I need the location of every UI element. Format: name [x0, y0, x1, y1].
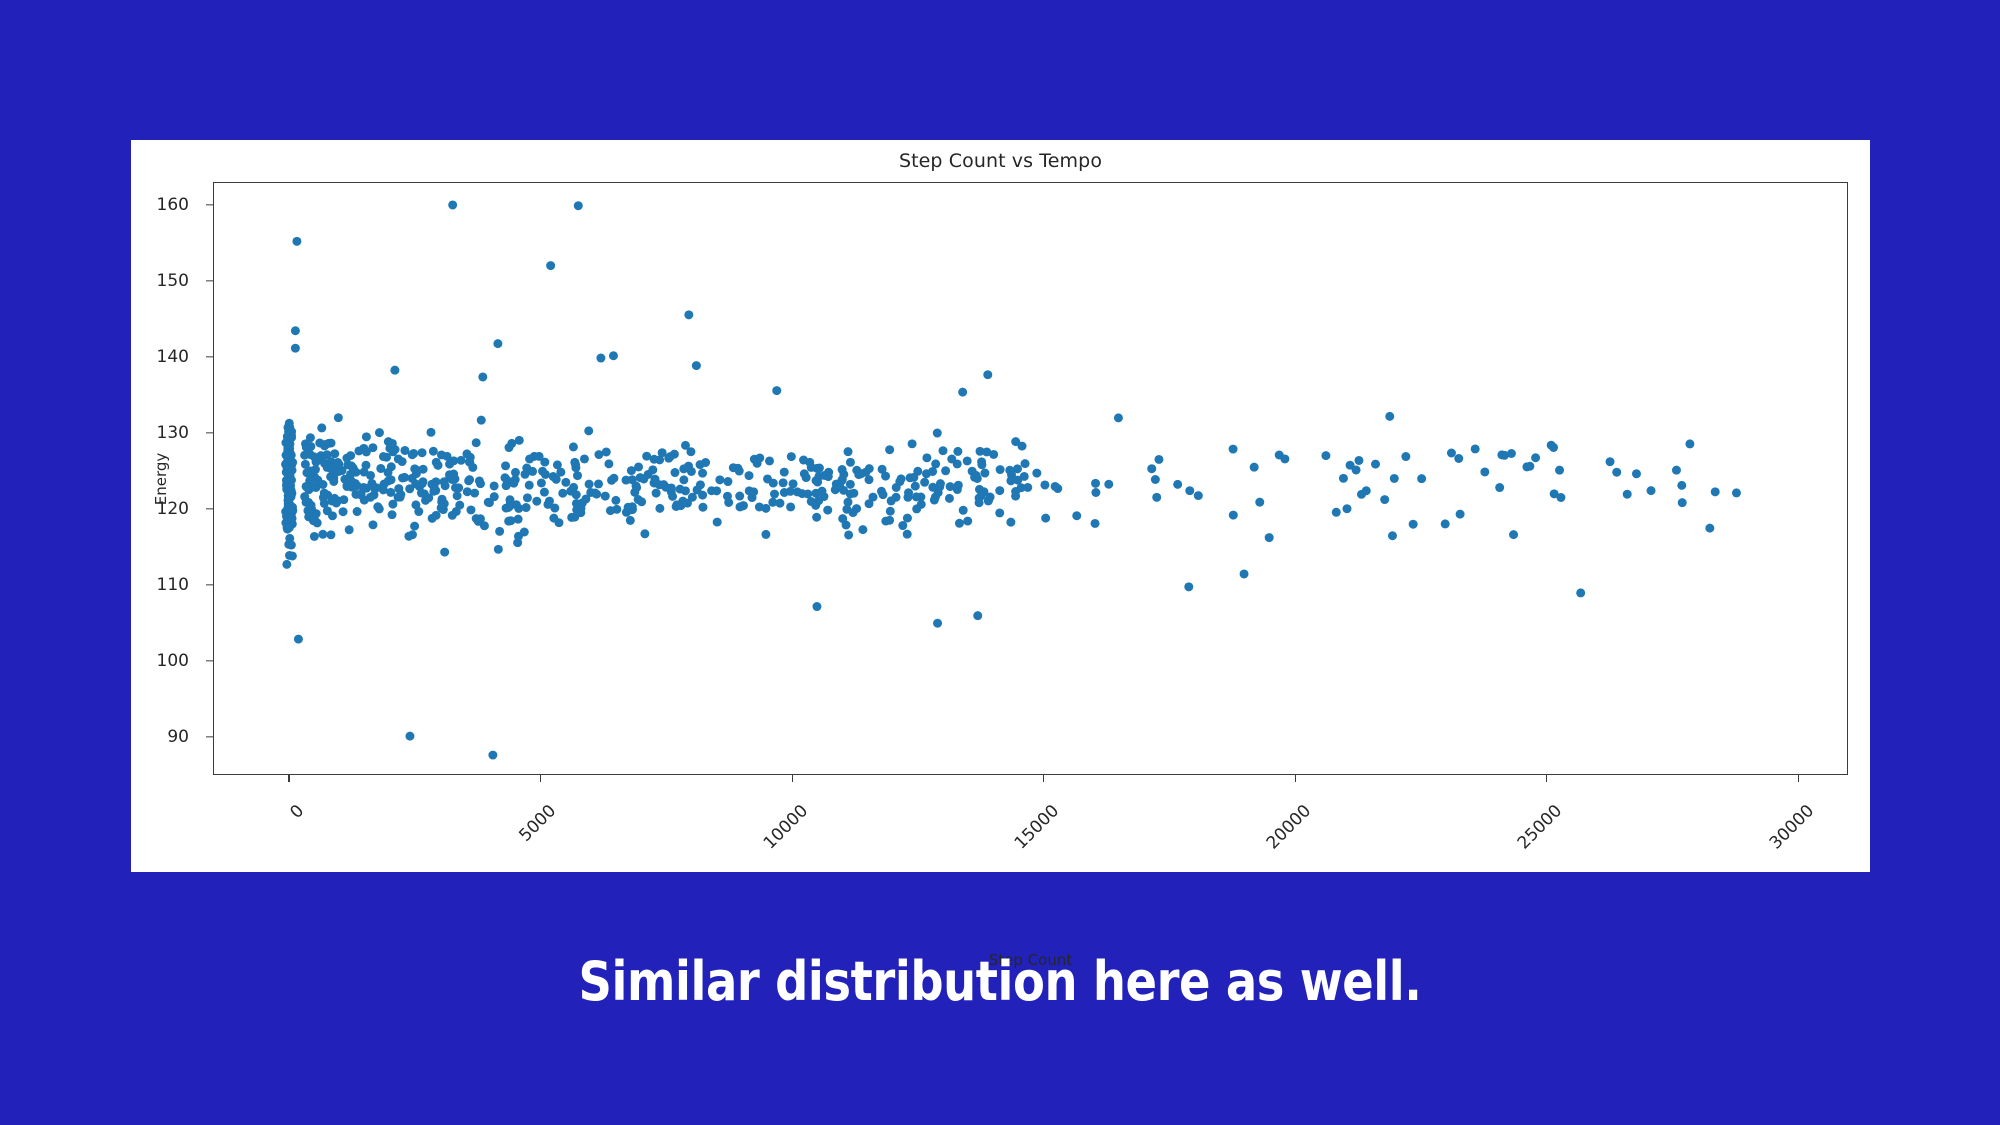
y-tick-mark	[206, 584, 213, 585]
x-tick-label: 5000	[515, 801, 560, 846]
y-tick-mark	[206, 356, 213, 357]
y-tick-label: 110	[157, 575, 201, 595]
slide-caption: Similar distribution here as well.	[140, 950, 1860, 1013]
x-tick-label: 0	[287, 801, 309, 823]
y-axis-label: Energy	[152, 452, 170, 505]
x-tick-mark	[792, 775, 793, 782]
x-tick-label: 10000	[759, 801, 811, 853]
y-tick-mark	[206, 508, 213, 509]
x-tick-label: 30000	[1765, 801, 1817, 853]
x-tick-label: 20000	[1262, 801, 1314, 853]
slide: Step Count vs Tempo 90100110120130140150…	[0, 0, 2000, 1125]
y-tick-mark	[206, 280, 213, 281]
x-tick-label: 25000	[1514, 801, 1566, 853]
y-tick-mark	[206, 204, 213, 205]
x-tick-mark	[540, 775, 541, 782]
x-tick-mark	[1043, 775, 1044, 782]
scatter-plot	[214, 183, 1847, 774]
x-tick-mark	[1546, 775, 1547, 782]
x-tick-mark	[288, 775, 289, 782]
x-tick-mark	[1798, 775, 1799, 782]
y-tick-label: 150	[157, 271, 201, 291]
chart-title: Step Count vs Tempo	[131, 150, 1870, 172]
scatter-points	[281, 200, 1741, 759]
figure-card: Step Count vs Tempo 90100110120130140150…	[131, 140, 1870, 872]
x-tick-label: 15000	[1011, 801, 1063, 853]
y-tick-label: 140	[157, 347, 201, 367]
y-tick-mark	[206, 660, 213, 661]
y-tick-label: 100	[157, 651, 201, 671]
y-tick-label: 160	[157, 195, 201, 215]
y-tick-label: 90	[167, 727, 201, 747]
x-tick-mark	[1295, 775, 1296, 782]
y-tick-label: 130	[157, 423, 201, 443]
y-tick-mark	[206, 736, 213, 737]
y-tick-mark	[206, 432, 213, 433]
plot-axes	[213, 182, 1848, 775]
